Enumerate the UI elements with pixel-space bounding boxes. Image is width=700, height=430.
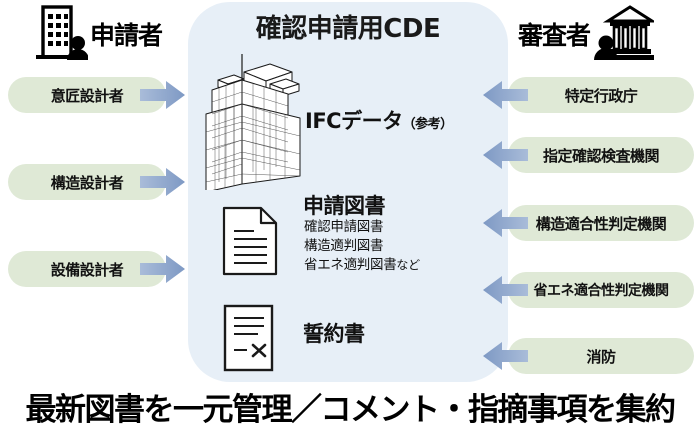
pill-right-2-label: 構造適合性判定機関 [536, 213, 667, 234]
pledge-document-icon [221, 303, 279, 377]
cde-panel-title: 確認申請用CDE [188, 8, 508, 45]
arrow-left-icon-1 [482, 140, 528, 170]
pill-right-0-label: 特定行政庁 [565, 85, 638, 106]
application-docs-sub-2-row: 省エネ適判図書など [304, 256, 420, 275]
pill-left-1-label: 構造設計者 [51, 172, 124, 193]
arrow-right-icon-0 [140, 80, 186, 110]
pill-right-4-label: 消防 [586, 346, 615, 367]
arrow-left-icon-4 [482, 341, 528, 371]
application-docs-sub-1: 構造適判図書 [304, 237, 420, 256]
pill-right-2[interactable]: 構造適合性判定機関 [508, 205, 694, 241]
arrow-right-icon-2 [140, 254, 186, 284]
arrow-left-icon-3 [482, 275, 528, 305]
application-docs-sub-2: 省エネ適判図書 [304, 257, 396, 273]
ifc-data-title: IFCデータ [305, 109, 403, 133]
application-docs-sub-0: 確認申請図書 [304, 218, 420, 237]
application-docs-sublist: 確認申請図書 構造適判図書 省エネ適判図書など [304, 218, 420, 275]
application-docs-title: 申請図書 [303, 190, 385, 220]
pill-right-1-label: 指定確認検査機関 [543, 145, 659, 166]
reviewer-header: 審査者 [518, 3, 654, 65]
pill-right-0[interactable]: 特定行政庁 [508, 77, 694, 113]
arrow-left-icon-2 [482, 208, 528, 238]
pill-right-4[interactable]: 消防 [508, 338, 694, 374]
pill-right-1[interactable]: 指定確認検査機関 [508, 137, 694, 173]
application-document-icon [221, 205, 281, 281]
ifc-data-note: （参考） [403, 117, 453, 132]
applicant-header: 申請者 [32, 3, 162, 65]
pill-left-2-label: 設備設計者 [51, 259, 124, 280]
ifc-building-icon [200, 52, 308, 194]
office-building-person-icon [32, 3, 88, 65]
pill-left-0-label: 意匠設計者 [51, 85, 124, 106]
pill-right-3-label: 省エネ適合性判定機関 [534, 280, 669, 300]
applicant-heading: 申請者 [90, 16, 162, 52]
ifc-data-label: IFCデータ（参考） [305, 105, 453, 135]
application-docs-sub-3: など [396, 258, 419, 272]
bottom-caption: 最新図書を一元管理／コメント・指摘事項を集約 [0, 384, 700, 429]
diagram-canvas: 確認申請用CDE [0, 0, 700, 430]
government-building-person-icon [592, 3, 654, 65]
reviewer-heading: 審査者 [518, 16, 590, 52]
arrow-left-icon-0 [482, 80, 528, 110]
pledge-title: 誓約書 [303, 318, 365, 348]
arrow-right-icon-1 [140, 167, 186, 197]
pill-right-3[interactable]: 省エネ適合性判定機関 [508, 272, 694, 308]
